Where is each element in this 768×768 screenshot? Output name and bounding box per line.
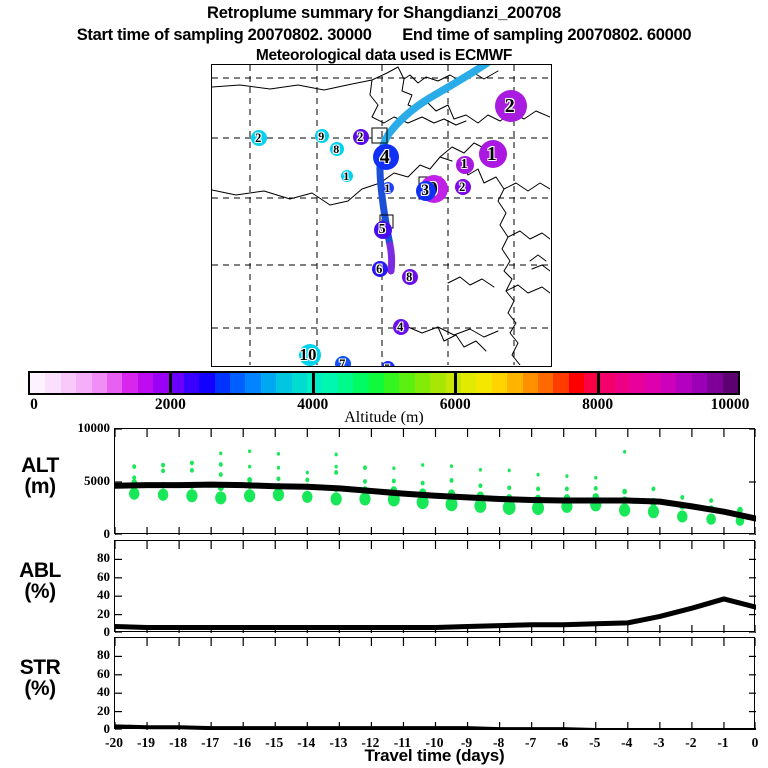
start-time-label: Start time of sampling 20070802. 30000 bbox=[77, 26, 372, 44]
colorbar-swatch-24 bbox=[399, 373, 414, 393]
map-marker-label: 1 bbox=[343, 170, 349, 182]
colorbar-swatch-12 bbox=[215, 373, 230, 393]
colorbar-swatch-34 bbox=[553, 373, 568, 393]
alt-scatter-dot bbox=[706, 513, 716, 524]
alt-scatter-dot bbox=[508, 468, 511, 472]
colorbar-swatch-21 bbox=[353, 373, 368, 393]
colorbar-swatch-4 bbox=[92, 373, 107, 393]
colorbar-swatch-44 bbox=[707, 373, 722, 393]
alt-scatter-dot bbox=[363, 479, 367, 484]
y-tick-abl-20: 20 bbox=[97, 606, 110, 622]
alt-scatter-dot bbox=[507, 485, 511, 490]
alt-scatter-dot bbox=[132, 475, 136, 480]
mean-line-alt bbox=[115, 485, 756, 519]
colorbar-swatch-42 bbox=[676, 373, 691, 393]
x-axis-title: Travel time (days) bbox=[114, 746, 755, 766]
alt-scatter-dot bbox=[186, 489, 197, 502]
alt-scatter-dot bbox=[536, 487, 540, 492]
sampling-time-line: Start time of sampling 20070802. 30000 E… bbox=[0, 26, 768, 45]
colorbar-swatch-43 bbox=[692, 373, 707, 393]
panel-plot-alt bbox=[115, 429, 756, 535]
colorbar-divider bbox=[597, 371, 600, 395]
panel-name-abl: ABL bbox=[8, 560, 72, 581]
colorbar-swatch-41 bbox=[661, 373, 676, 393]
map-marker-label: 4 bbox=[397, 321, 403, 333]
colorbar-swatch-30 bbox=[492, 373, 507, 393]
map-marker-label: 5 bbox=[379, 223, 386, 237]
map-marker-label: 1 bbox=[487, 144, 497, 164]
colorbar-swatch-16 bbox=[276, 373, 291, 393]
panel-y-label-str: STR(%) bbox=[8, 657, 72, 700]
colorbar-swatch-15 bbox=[261, 373, 276, 393]
colorbar-swatch-13 bbox=[230, 373, 245, 393]
colorbar-swatch-38 bbox=[615, 373, 630, 393]
colorbar-swatch-6 bbox=[122, 373, 137, 393]
map-marker-label: 3 bbox=[421, 183, 429, 199]
colorbar-swatch-19 bbox=[322, 373, 337, 393]
altitude-colorbar[interactable] bbox=[28, 371, 740, 395]
alt-scatter-dot bbox=[619, 504, 630, 517]
y-tick-abl-80: 80 bbox=[97, 550, 110, 566]
colorbar-swatch-31 bbox=[507, 373, 522, 393]
alt-scatter-dot bbox=[479, 468, 482, 472]
panel-abl[interactable] bbox=[114, 540, 755, 632]
alt-scatter-dot bbox=[536, 473, 539, 477]
alt-scatter-dot bbox=[302, 491, 312, 503]
alt-scatter-dot bbox=[363, 465, 367, 470]
map-marker-label: 7 bbox=[339, 358, 345, 367]
alt-scatter-dot bbox=[450, 464, 453, 468]
y-tick-abl-60: 60 bbox=[97, 569, 110, 585]
alt-scatter-dot bbox=[244, 489, 255, 502]
alt-scatter-dot bbox=[331, 492, 342, 505]
alt-scatter-dot bbox=[709, 498, 713, 503]
colorbar-swatch-25 bbox=[415, 373, 430, 393]
colorbar-gradient bbox=[28, 371, 740, 395]
colorbar-divider bbox=[454, 371, 457, 395]
panel-name-str: STR bbox=[8, 657, 72, 678]
alt-scatter-dot bbox=[421, 463, 424, 467]
map-marker-label: 2 bbox=[357, 131, 363, 143]
colorbar-swatch-11 bbox=[199, 373, 214, 393]
panel-str[interactable] bbox=[114, 637, 755, 729]
end-time-label: End time of sampling 20070802. 60000 bbox=[402, 26, 691, 44]
colorbar-swatch-3 bbox=[76, 373, 91, 393]
colorbar-swatch-26 bbox=[430, 373, 445, 393]
alt-scatter-dot bbox=[161, 463, 165, 468]
map-marker-label: 10 bbox=[299, 346, 316, 363]
colorbar-swatch-14 bbox=[245, 373, 260, 393]
alt-scatter-dot bbox=[132, 464, 136, 469]
alt-scatter-dot bbox=[651, 487, 655, 492]
y-tick-str-0: 0 bbox=[104, 721, 111, 737]
alt-scatter-dot bbox=[478, 483, 482, 488]
colorbar-swatch-40 bbox=[646, 373, 661, 393]
alt-scatter-dot bbox=[190, 468, 194, 473]
panel-name-alt: ALT bbox=[8, 455, 72, 476]
map-marker-label: 1 bbox=[461, 158, 468, 172]
colorbar-swatch-20 bbox=[338, 373, 353, 393]
colorbar-swatch-23 bbox=[384, 373, 399, 393]
colorbar-swatch-37 bbox=[599, 373, 614, 393]
map-marker-label: 1 bbox=[384, 182, 390, 194]
colorbar-swatch-39 bbox=[630, 373, 645, 393]
map-marker-label: 5 bbox=[384, 362, 390, 367]
colorbar-swatch-17 bbox=[292, 373, 307, 393]
colorbar-swatch-45 bbox=[723, 373, 738, 393]
alt-scatter-dot bbox=[623, 450, 626, 454]
y-tick-alt-10000: 10000 bbox=[78, 420, 111, 436]
y-tick-alt-5000: 5000 bbox=[84, 473, 110, 489]
colorbar-swatch-33 bbox=[538, 373, 553, 393]
colorbar-swatch-35 bbox=[569, 373, 584, 393]
alt-scatter-dot bbox=[219, 472, 223, 477]
colorbar-swatch-28 bbox=[461, 373, 476, 393]
alt-scatter-dot bbox=[190, 461, 194, 466]
panel-y-label-alt: ALT(m) bbox=[8, 455, 72, 498]
map-marker-label: 4 bbox=[380, 147, 390, 167]
alt-scatter-dot bbox=[450, 478, 454, 483]
alt-scatter-dot bbox=[219, 452, 222, 456]
colorbar-swatch-22 bbox=[369, 373, 384, 393]
alt-scatter-dot bbox=[565, 487, 569, 492]
alt-scatter-dot bbox=[277, 452, 280, 456]
alt-scatter-dot bbox=[677, 510, 687, 522]
alt-scatter-dot bbox=[305, 478, 309, 483]
panel-y-label-abl: ABL(%) bbox=[8, 560, 72, 603]
colorbar-swatch-5 bbox=[107, 373, 122, 393]
alt-scatter-dot bbox=[622, 489, 627, 495]
panel-alt[interactable] bbox=[114, 428, 755, 534]
alt-scatter-dot bbox=[158, 489, 168, 501]
alt-scatter-dot bbox=[335, 465, 338, 469]
colorbar-axis-title: Altitude (m) bbox=[0, 409, 768, 427]
met-data-label: Meteorological data used is ECMWF bbox=[0, 47, 768, 65]
alt-scatter-dot bbox=[594, 486, 598, 491]
retroplume-map[interactable]: 298241121120356841075 bbox=[211, 64, 552, 367]
alt-scatter-dot bbox=[335, 453, 338, 457]
alt-scatter-dot bbox=[565, 474, 568, 478]
map-marker-label: 9 bbox=[318, 130, 324, 142]
alt-scatter-dot bbox=[161, 469, 165, 474]
colorbar-swatch-32 bbox=[523, 373, 538, 393]
page-title: Retroplume summary for Shangdianzi_20070… bbox=[0, 4, 768, 23]
map-marker-label: 8 bbox=[406, 271, 412, 283]
panel-plot-abl bbox=[115, 541, 756, 633]
alt-scatter-dot bbox=[306, 471, 309, 475]
alt-scatter-dot bbox=[248, 449, 251, 453]
y-tick-abl-0: 0 bbox=[104, 624, 111, 640]
colorbar-swatch-29 bbox=[476, 373, 491, 393]
panel-unit-alt: (m) bbox=[8, 476, 72, 497]
alt-scatter-dot bbox=[359, 492, 370, 505]
panel-unit-str: (%) bbox=[8, 678, 72, 699]
alt-scatter-dot bbox=[129, 488, 139, 500]
map-marker-label: 8 bbox=[333, 143, 339, 155]
panel-plot-str bbox=[115, 638, 756, 730]
alt-scatter-dot bbox=[273, 488, 284, 501]
y-tick-str-40: 40 bbox=[97, 684, 110, 700]
alt-scatter-dot bbox=[334, 470, 338, 475]
colorbar-swatch-0 bbox=[30, 373, 45, 393]
alt-scatter-dot bbox=[248, 465, 251, 469]
colorbar-swatch-7 bbox=[138, 373, 153, 393]
map-marker-label: 6 bbox=[376, 263, 382, 275]
alt-scatter-dot bbox=[680, 495, 684, 500]
alt-scatter-dot bbox=[392, 479, 396, 484]
y-tick-abl-40: 40 bbox=[97, 587, 110, 603]
map-marker-label: 2 bbox=[255, 132, 261, 144]
panel-unit-abl: (%) bbox=[8, 581, 72, 602]
colorbar-divider bbox=[169, 371, 172, 395]
alt-scatter-dot bbox=[392, 466, 395, 470]
map-marker-label: 2 bbox=[505, 96, 515, 116]
y-tick-alt-0: 0 bbox=[104, 526, 111, 542]
colorbar-swatch-2 bbox=[61, 373, 76, 393]
alt-scatter-dot bbox=[247, 477, 252, 483]
colorbar-swatch-10 bbox=[184, 373, 199, 393]
y-tick-str-60: 60 bbox=[97, 666, 110, 682]
y-tick-str-20: 20 bbox=[97, 703, 110, 719]
colorbar-swatch-1 bbox=[45, 373, 60, 393]
alt-scatter-dot bbox=[594, 476, 597, 480]
map-marker-label: 2 bbox=[459, 181, 465, 193]
alt-scatter-dot bbox=[648, 505, 659, 518]
alt-scatter-dot bbox=[421, 481, 425, 486]
y-tick-str-80: 80 bbox=[97, 647, 110, 663]
alt-scatter-dot bbox=[215, 491, 226, 504]
colorbar-swatch-8 bbox=[153, 373, 168, 393]
alt-scatter-dot bbox=[277, 466, 280, 470]
alt-scatter-dot bbox=[276, 476, 280, 481]
header-block: Retroplume summary for Shangdianzi_20070… bbox=[0, 0, 768, 65]
mean-line-abl bbox=[115, 599, 756, 628]
colorbar-divider bbox=[312, 371, 315, 395]
alt-scatter-dot bbox=[219, 462, 223, 467]
